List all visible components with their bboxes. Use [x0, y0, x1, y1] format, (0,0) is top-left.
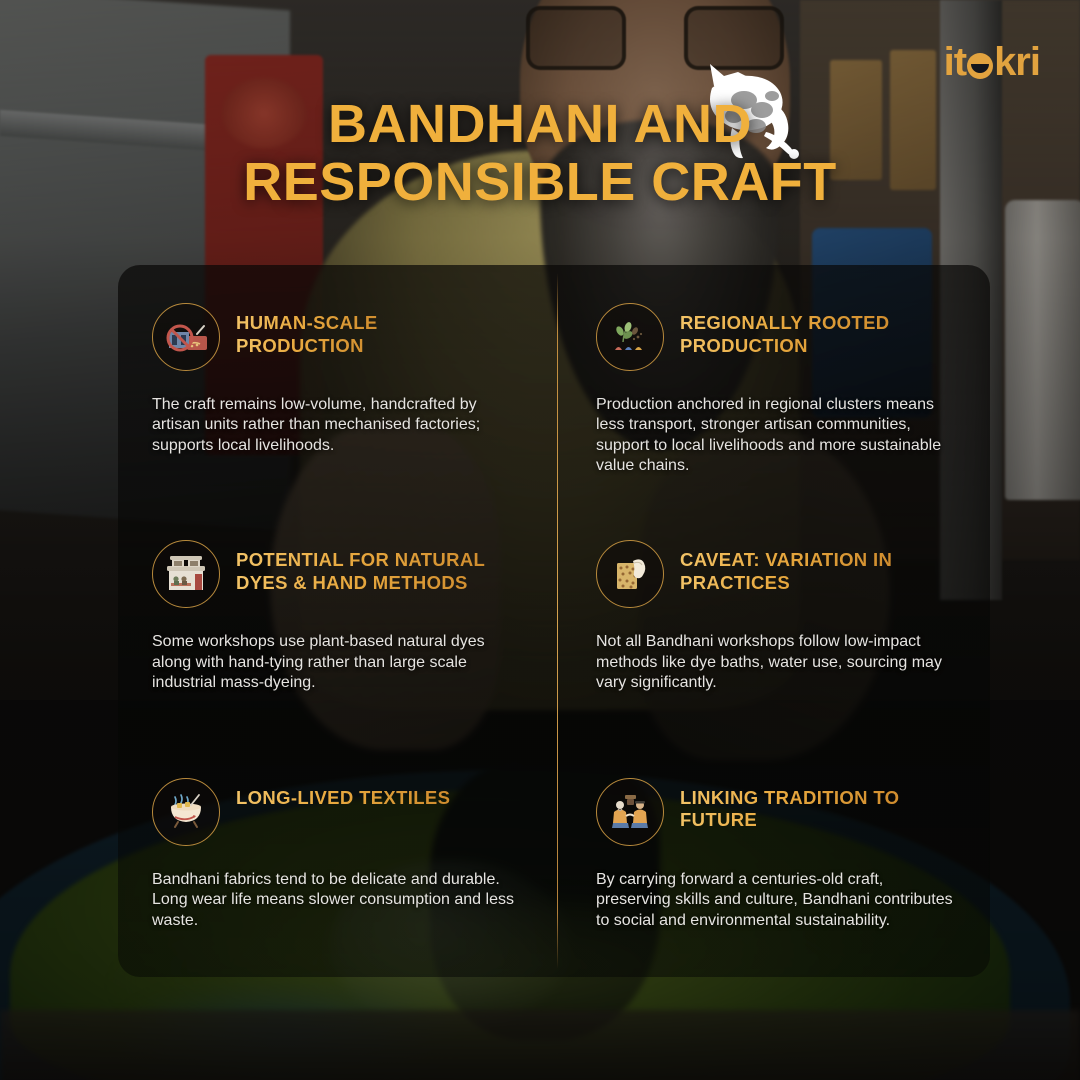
card-body: The craft remains low-volume, handcrafte…	[152, 395, 520, 456]
card-title: CAVEAT: VARIATION IN PRACTICES	[680, 540, 892, 594]
page-title: BANDHANI AND RESPONSIBLE CRAFT	[0, 95, 1080, 212]
card-body: By carrying forward a centuries-old craf…	[596, 870, 956, 931]
card-linking-tradition-to-future: LINKING TRADITION TO FUTURE By carrying …	[554, 740, 990, 977]
logo-letters-kri: kri	[994, 40, 1040, 84]
workshop-building-icon	[152, 540, 220, 608]
card-header: HUMAN-SCALE PRODUCTION	[152, 303, 520, 371]
header: itkri BANDHANI AND RESPONSIBLE CRAFT	[0, 0, 1080, 265]
card-natural-dyes-hand-methods: POTENTIAL FOR NATURAL DYES & HAND METHOD…	[118, 502, 554, 739]
brand-logo[interactable]: itkri	[944, 42, 1040, 82]
card-header: LINKING TRADITION TO FUTURE	[596, 778, 956, 846]
card-title: REGIONALLY ROOTED PRODUCTION	[680, 303, 889, 357]
card-title: HUMAN-SCALE PRODUCTION	[236, 303, 378, 357]
logo-o-glyph-icon	[967, 53, 993, 79]
logo-letters-it: it	[944, 40, 966, 84]
card-body: Some workshops use plant-based natural d…	[152, 632, 520, 693]
hand-holding-fabric-icon	[596, 540, 664, 608]
card-header: POTENTIAL FOR NATURAL DYES & HAND METHOD…	[152, 540, 520, 608]
card-header: CAVEAT: VARIATION IN PRACTICES	[596, 540, 956, 608]
card-header: LONG-LIVED TEXTILES	[152, 778, 520, 846]
card-long-lived-textiles: LONG-LIVED TEXTILES Bandhani fabrics ten…	[118, 740, 554, 977]
content-panel: HUMAN-SCALE PRODUCTION The craft remains…	[118, 265, 990, 977]
card-title: POTENTIAL FOR NATURAL DYES & HAND METHOD…	[236, 540, 485, 594]
card-title: LONG-LIVED TEXTILES	[236, 778, 450, 810]
card-caveat-variation-in-practices: CAVEAT: VARIATION IN PRACTICES Not all B…	[554, 502, 990, 739]
card-body: Bandhani fabrics tend to be delicate and…	[152, 870, 520, 931]
two-artisans-icon	[596, 778, 664, 846]
cards-grid: HUMAN-SCALE PRODUCTION The craft remains…	[118, 265, 990, 977]
no-factory-icon	[152, 303, 220, 371]
steaming-dye-pot-icon	[152, 778, 220, 846]
card-body: Not all Bandhani workshops follow low-im…	[596, 632, 956, 693]
card-header: REGIONALLY ROOTED PRODUCTION	[596, 303, 956, 371]
plant-dye-mounds-icon	[596, 303, 664, 371]
card-regionally-rooted-production: REGIONALLY ROOTED PRODUCTION Production …	[554, 265, 990, 502]
card-body: Production anchored in regional clusters…	[596, 395, 956, 477]
card-title: LINKING TRADITION TO FUTURE	[680, 778, 899, 832]
card-human-scale-production: HUMAN-SCALE PRODUCTION The craft remains…	[118, 265, 554, 502]
